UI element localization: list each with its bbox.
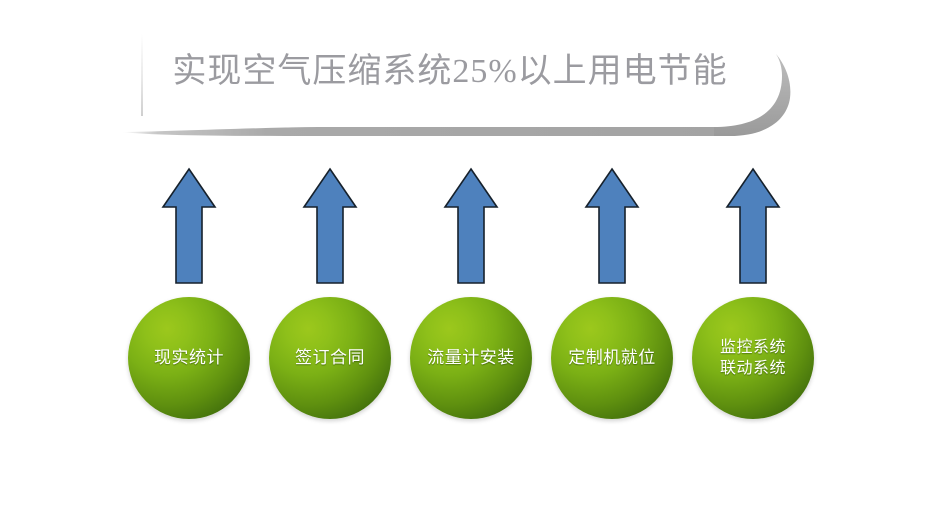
step-label: 流量计安装 — [427, 347, 515, 369]
arrow-up-icon — [442, 165, 500, 287]
process-step-5[interactable]: 监控系统 联动系统 — [690, 165, 816, 430]
process-step-3[interactable]: 流量计安装 — [408, 165, 534, 430]
step-bubble[interactable]: 定制机就位 — [551, 297, 673, 419]
step-bubble[interactable]: 现实统计 — [128, 297, 250, 419]
step-label: 签订合同 — [295, 347, 365, 369]
step-bubble[interactable]: 流量计安装 — [410, 297, 532, 419]
arrow-up-icon — [301, 165, 359, 287]
page-title: 实现空气压缩系统25%以上用电节能 — [150, 50, 750, 94]
process-step-2[interactable]: 签订合同 — [267, 165, 393, 430]
slide-canvas: 实现空气压缩系统25%以上用电节能 现实统计 签订合同 — [0, 0, 945, 529]
arrow-up-icon — [160, 165, 218, 287]
arrow-up-icon — [583, 165, 641, 287]
title-banner: 实现空气压缩系统25%以上用电节能 — [118, 28, 808, 140]
step-label: 现实统计 — [154, 347, 224, 369]
process-step-4[interactable]: 定制机就位 — [549, 165, 675, 430]
step-bubble[interactable]: 监控系统 联动系统 — [692, 297, 814, 419]
arrow-up-icon — [724, 165, 782, 287]
step-label: 监控系统 联动系统 — [720, 337, 786, 379]
process-step-row: 现实统计 签订合同 流量计安装 — [126, 165, 816, 430]
process-step-1[interactable]: 现实统计 — [126, 165, 252, 430]
step-bubble[interactable]: 签订合同 — [269, 297, 391, 419]
step-label: 定制机就位 — [568, 347, 656, 369]
